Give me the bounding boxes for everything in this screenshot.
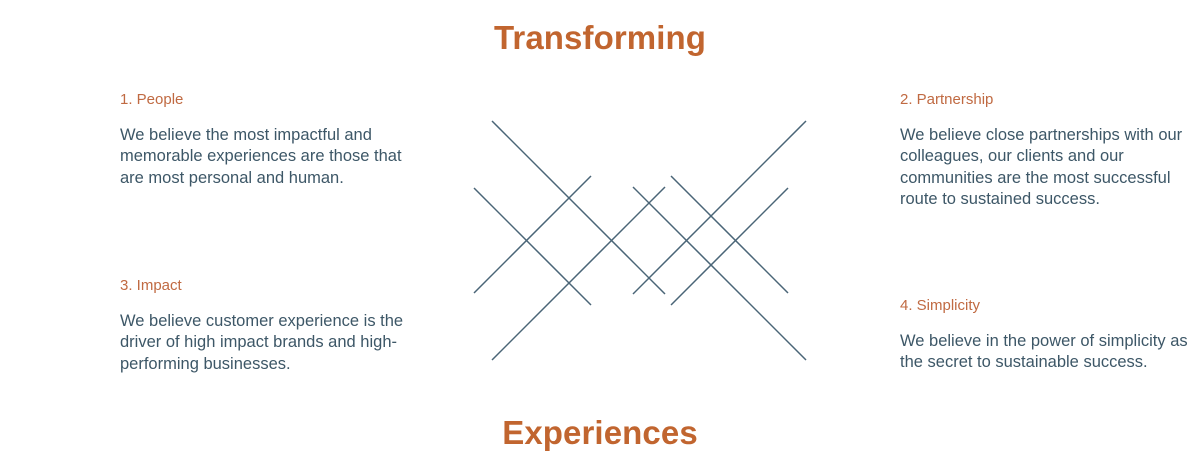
quadrant-impact-body: We believe customer experience is the dr… bbox=[120, 311, 420, 376]
quadrant-impact-title: 3. Impact bbox=[120, 278, 420, 295]
quadrant-impact: 3. Impact We believe customer experience… bbox=[120, 278, 420, 375]
x-line-bottom-left-outer bbox=[492, 187, 665, 360]
x-line-bottom-right-outer bbox=[633, 187, 806, 360]
quadrant-people: 1. People We believe the most impactful … bbox=[120, 92, 420, 189]
quadrant-people-title: 1. People bbox=[120, 92, 420, 109]
x-line-bottom-right-inner bbox=[671, 176, 788, 293]
quadrant-partnership-body: We believe close partnerships with our c… bbox=[900, 125, 1200, 211]
x-line-top-left-outer bbox=[492, 121, 665, 294]
quadrant-partnership-title: 2. Partnership bbox=[900, 92, 1200, 109]
slide-canvas: Transforming 1. People We believe the mo… bbox=[0, 0, 1200, 462]
x-line-bottom-left-inner bbox=[474, 176, 591, 293]
page-title-experiences: Experiences bbox=[0, 414, 1200, 452]
page-title-transforming: Transforming bbox=[0, 19, 1200, 57]
quadrant-simplicity-title: 4. Simplicity bbox=[900, 298, 1200, 315]
x-cross-graphic bbox=[470, 75, 820, 405]
x-line-top-left-inner bbox=[474, 188, 591, 305]
quadrant-people-body: We believe the most impactful and memora… bbox=[120, 125, 420, 190]
quadrant-simplicity-body: We believe in the power of simplicity as… bbox=[900, 331, 1200, 374]
quadrant-simplicity: 4. Simplicity We believe in the power of… bbox=[900, 298, 1200, 374]
x-line-top-right-inner bbox=[671, 188, 788, 305]
x-line-top-right-outer bbox=[633, 121, 806, 294]
quadrant-partnership: 2. Partnership We believe close partners… bbox=[900, 92, 1200, 211]
x-cross-svg bbox=[470, 75, 820, 405]
